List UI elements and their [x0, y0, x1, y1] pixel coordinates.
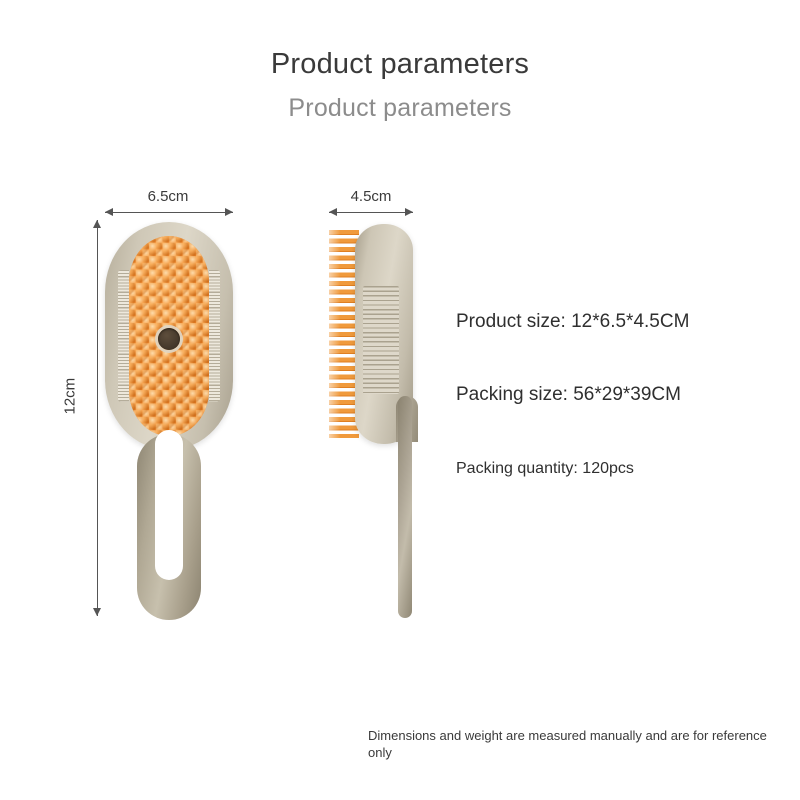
dimension-label-height: 12cm [62, 399, 79, 415]
arrow-head-left-icon [105, 208, 113, 216]
arrow-line [97, 220, 98, 616]
arrow-head-bottom-icon [93, 608, 101, 616]
handle-opening [155, 430, 183, 580]
arrow-head-right-icon [405, 208, 413, 216]
spec-product-size: Product size: 12*6.5*4.5CM [456, 311, 689, 333]
spec-packing-quantity: Packing quantity: 120pcs [456, 460, 634, 478]
product-front-handle [137, 434, 201, 620]
product-side-handle [398, 396, 412, 618]
arrow-head-top-icon [93, 220, 101, 228]
dimension-label-front-width: 6.5cm [103, 188, 233, 205]
center-hole [158, 328, 180, 350]
dimension-arrow-front-width [105, 208, 233, 217]
comb-teeth-left [118, 270, 129, 402]
dimension-arrow-height [93, 220, 102, 616]
arrow-line [105, 212, 233, 213]
arrow-head-right-icon [225, 208, 233, 216]
dimension-arrow-side-width [329, 208, 413, 217]
comb-teeth-right [209, 270, 220, 402]
dimension-label-side-width: 4.5cm [327, 188, 415, 205]
side-comb-ridges [363, 286, 399, 394]
arrow-line [329, 212, 413, 213]
arrow-head-left-icon [329, 208, 337, 216]
spec-packing-size: Packing size: 56*29*39CM [456, 384, 681, 406]
product-front-view [105, 222, 233, 450]
page-title: Product parameters [0, 48, 800, 81]
silicone-brush-pad [129, 236, 209, 436]
page-subtitle: Product parameters [0, 94, 800, 123]
disclaimer-note: Dimensions and weight are measured manua… [368, 727, 768, 761]
